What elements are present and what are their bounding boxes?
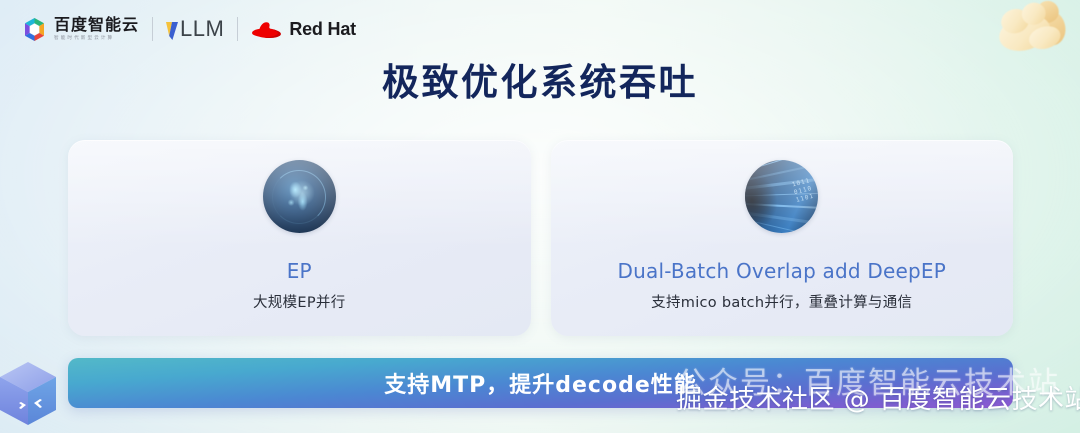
baidu-brand-tagline: 智能时代新型云计算 — [54, 34, 139, 41]
baidu-brand-name: 百度智能云 — [54, 17, 139, 34]
feature-card-dual-batch-overlap[interactable]: 101101101101 Dual-Batch Overlap add Deep… — [551, 140, 1014, 336]
globe-network-image — [263, 160, 336, 233]
red-hat-brand-name: Red Hat — [289, 19, 356, 40]
feature-card-ep[interactable]: EP 大规模EP并行 — [68, 140, 531, 336]
watermark-juejin-community: 掘金技术社区 @ 百度智能云技术站 — [676, 379, 1080, 416]
baidu-hexagon-logo — [22, 17, 47, 42]
card-description: 支持mico batch并行，重叠计算与通信 — [651, 291, 912, 312]
fiber-optic-data-image: 101101101101 — [745, 160, 818, 233]
red-hat-fedora-logo — [251, 19, 282, 40]
brand-logo-bar: 百度智能云 智能时代新型云计算 LLM Red Hat — [22, 12, 356, 46]
card-title: EP — [287, 259, 312, 283]
brand-baidu-ai-cloud: 百度智能云 智能时代新型云计算 — [22, 17, 139, 42]
brand-vllm: LLM — [166, 18, 224, 40]
brand-divider-1 — [152, 17, 153, 41]
card-description: 大规模EP并行 — [253, 291, 346, 312]
page-title: 极致优化系统吞吐 — [0, 52, 1080, 106]
vllm-logo — [166, 19, 179, 40]
brand-red-hat: Red Hat — [251, 19, 356, 40]
feature-cards: EP 大规模EP并行 101101101101 Dual-Batch Overl… — [68, 140, 1013, 336]
card-title: Dual-Batch Overlap add DeepEP — [618, 259, 946, 283]
brand-divider-2 — [237, 17, 238, 41]
vllm-brand-name: LLM — [180, 18, 224, 40]
cube-3d-quote-icon — [0, 358, 62, 433]
banner-text: 支持MTP，提升decode性能 — [384, 367, 697, 399]
